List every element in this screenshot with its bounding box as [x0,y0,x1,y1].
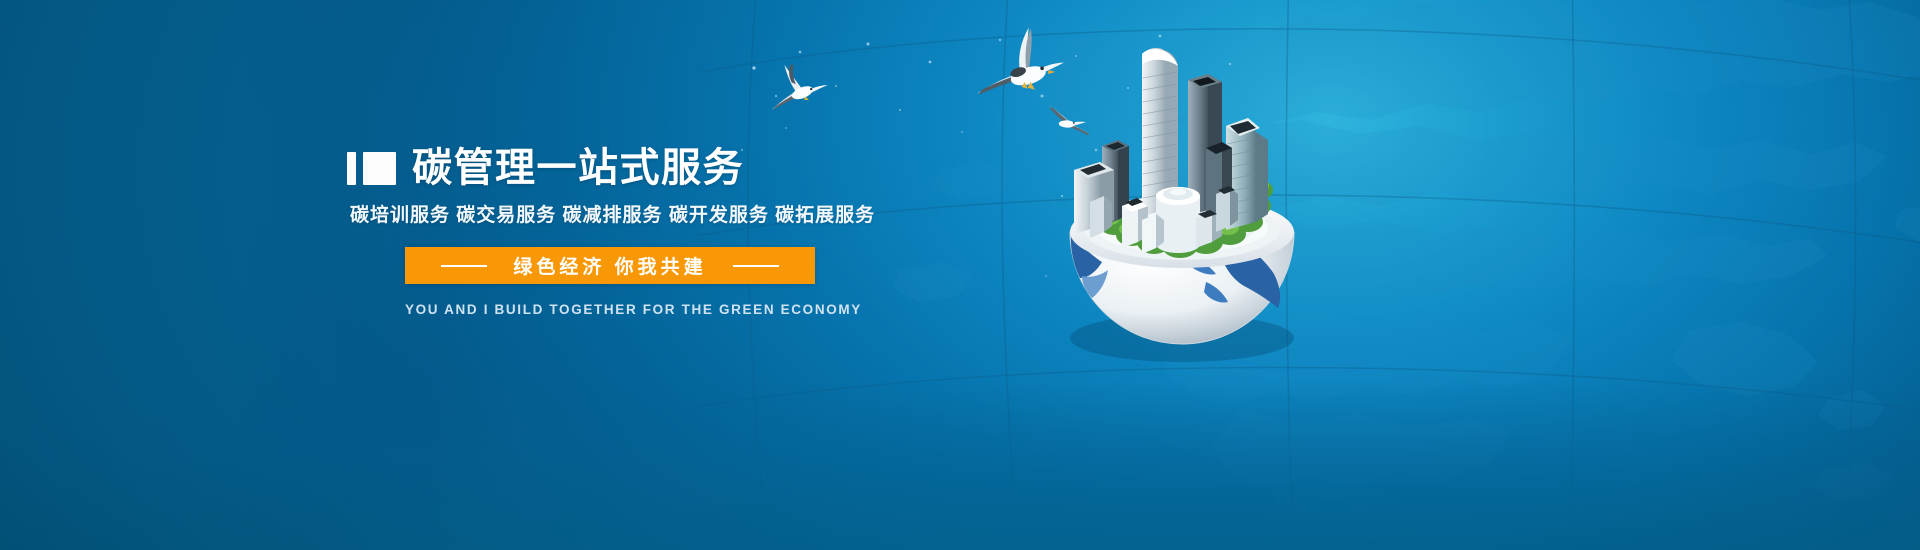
slogan-text: 绿色经济 你我共建 [513,252,706,279]
slogan-bar: 绿色经济 你我共建 [405,247,815,284]
english-tagline: YOU AND I BUILD TOGETHER FOR THE GREEN E… [405,302,815,317]
services-subtitle: 碳培训服务 碳交易服务 碳减排服务 碳开发服务 碳拓展服务 [350,200,967,227]
brand-logo-mark [347,152,396,185]
banner-copy: 碳管理一站式服务 碳培训服务 碳交易服务 碳减排服务 碳开发服务 碳拓展服务 绿… [347,148,967,317]
slogan-left-dash-icon [441,265,487,267]
hero-banner: 碳管理一站式服务 碳培训服务 碳交易服务 碳减排服务 碳开发服务 碳拓展服务 绿… [0,0,1920,550]
slogan-right-dash-icon [733,265,779,267]
logo-square-icon [363,152,396,185]
title-row: 碳管理一站式服务 [347,148,967,188]
page-title: 碳管理一站式服务 [412,148,744,188]
logo-bar-icon [347,152,356,185]
